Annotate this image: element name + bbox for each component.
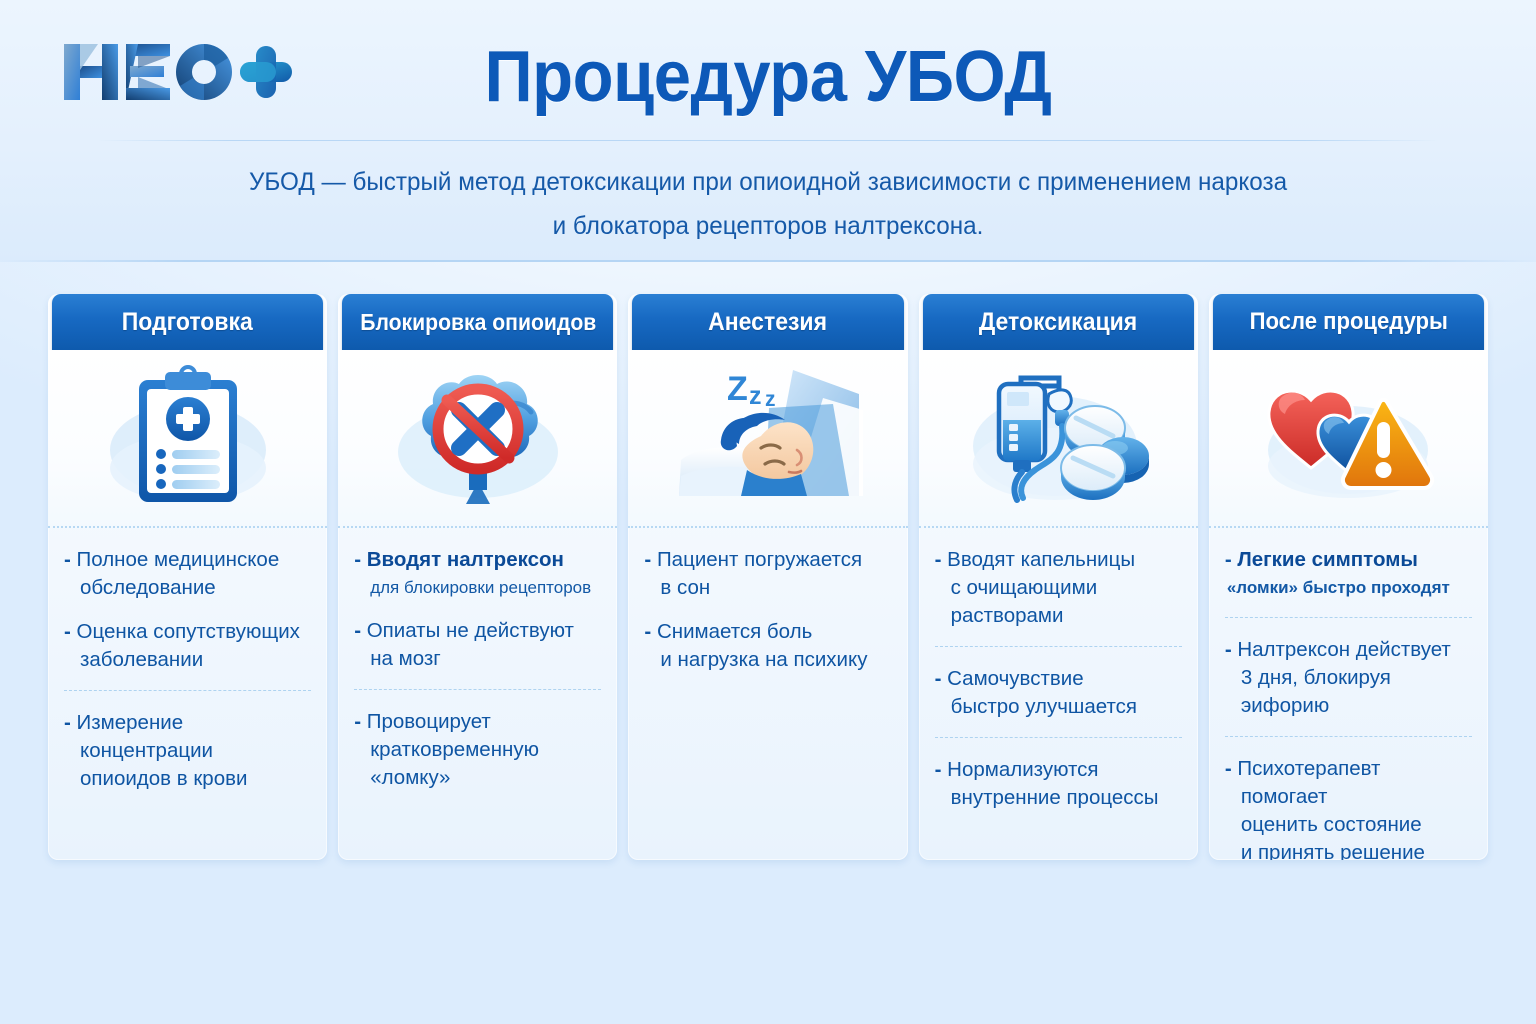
step-card-after[interactable]: После процедуры xyxy=(1209,294,1488,860)
step-bullets: - Полное медицинское обследование - Оцен… xyxy=(48,528,327,860)
bullet-cont-2: растворами xyxy=(935,602,1182,630)
subtitle-line-1: УБОД — быстрый метод детоксикации при оп… xyxy=(186,160,1350,204)
bullet-main: - Полное медицинское xyxy=(64,546,311,574)
bullet-text: Легкие симптомы xyxy=(1237,548,1418,571)
bullet-item: - Психотерапевт помогает оценить состоян… xyxy=(1225,736,1472,860)
bullet-item: - Налтрексон действует 3 дня, блокируя э… xyxy=(1225,617,1472,720)
bullet-main: - Легкие симптомы xyxy=(1225,546,1472,574)
page-subtitle: УБОД — быстрый метод детоксикации при оп… xyxy=(186,160,1350,248)
bullet-main: - Самочувствие xyxy=(935,665,1182,693)
step-title: Анестезия xyxy=(709,308,828,337)
step-bullets: - Вводят капельницы с очищающими раствор… xyxy=(919,528,1198,860)
bullet-cont: кратковременную xyxy=(354,736,601,764)
bullet-dash: - xyxy=(1225,757,1232,780)
step-header-preparation: Подготовка xyxy=(52,294,323,350)
step-bullets: - Легкие симптомы «ломки» быстро проходя… xyxy=(1209,528,1488,860)
iv-drip-pills-icon xyxy=(963,364,1153,514)
bullet-dash: - xyxy=(354,619,361,642)
bullet-item: - Измерение концентрации опиоидов в кров… xyxy=(64,690,311,793)
bullet-cont-2: «ломку» xyxy=(354,764,601,792)
bullet-dash: - xyxy=(64,620,71,643)
bullet-dash: - xyxy=(935,667,942,690)
bullet-main: - Вводят капельницы xyxy=(935,546,1182,574)
bullet-cont: оценить состояние xyxy=(1225,811,1472,839)
bullet-text: Вводят капельницы xyxy=(947,548,1135,571)
bullet-main: - Провоцирует xyxy=(354,708,601,736)
step-icon-zone xyxy=(338,350,617,528)
brain-blocked-icon xyxy=(383,364,573,514)
subtitle-line-2: и блокатора рецепторов налтрексона. xyxy=(186,204,1350,248)
bullet-main: - Оценка сопутствующих xyxy=(64,618,311,646)
bullet-item: - Опиаты не действуют на мозг xyxy=(354,617,601,673)
bullet-dash: - xyxy=(644,548,651,571)
bullet-dash: - xyxy=(644,620,651,643)
bullet-dash: - xyxy=(935,548,942,571)
step-header-anesthesia: Анестезия xyxy=(632,294,903,350)
bullet-cont: и нагрузка на психику xyxy=(644,646,891,674)
step-header-opioid-blocking: Блокировка опиоидов xyxy=(342,294,613,350)
bullet-sub: «ломки» быстро проходят xyxy=(1225,575,1472,601)
header-divider xyxy=(96,140,1440,141)
bullet-item: - Оценка сопутствующих заболевании xyxy=(64,618,311,674)
bullet-text: Самочувствие xyxy=(947,667,1083,690)
bullet-main: - Психотерапевт помогает xyxy=(1225,755,1472,811)
bullet-text: Налтрексон действует xyxy=(1237,638,1450,661)
bullet-text: Опиаты не действуют xyxy=(367,619,574,642)
step-icon-zone xyxy=(1209,350,1488,528)
bullet-main: - Вводят налтрексон xyxy=(354,546,601,574)
bullet-dash: - xyxy=(1225,638,1232,661)
svg-text:z: z xyxy=(765,388,776,411)
svg-text:z: z xyxy=(749,382,762,410)
bullet-item: - Вводят капельницы с очищающими раствор… xyxy=(935,546,1182,630)
bullet-item: - Снимается боль и нагрузка на психику xyxy=(644,618,891,674)
bullet-main: - Налтрексон действует xyxy=(1225,636,1472,664)
step-title: Детоксикация xyxy=(979,308,1137,337)
bullet-cont: опиоидов в крови xyxy=(64,765,311,793)
step-card-detox[interactable]: Детоксикация xyxy=(919,294,1198,860)
bullet-main: - Нормализуются xyxy=(935,756,1182,784)
bullet-main: - Измерение концентрации xyxy=(64,709,311,765)
bullet-main: - Пациент погружается xyxy=(644,546,891,574)
bullet-item: - Нормализуются внутренние процессы xyxy=(935,737,1182,812)
bullet-text: Вводят налтрексон xyxy=(367,548,564,571)
bullet-item: - Провоцирует кратковременную «ломку» xyxy=(354,689,601,792)
infographic-poster: Процедура УБОД УБОД — быстрый метод дето… xyxy=(0,0,1536,1024)
bullet-text: Нормализуются xyxy=(947,758,1098,781)
step-title: Блокировка опиоидов xyxy=(360,309,596,336)
page-title: Процедура УБОД xyxy=(54,36,1482,118)
bullet-cont: заболевании xyxy=(64,646,311,674)
bullet-dash: - xyxy=(354,710,361,733)
zzz-label: Z xyxy=(727,370,748,408)
step-bullets: - Вводят налтрексон для блокировки рецеп… xyxy=(338,528,617,860)
hearts-warning-icon xyxy=(1253,364,1443,514)
bullet-text: Оценка сопутствующих xyxy=(77,620,300,643)
bullet-dash: - xyxy=(354,548,361,571)
step-card-preparation[interactable]: Подготовка xyxy=(48,294,327,860)
steps-row: Подготовка xyxy=(48,294,1488,860)
bullet-dash: - xyxy=(1225,548,1232,571)
bullet-item: - Самочувствие быстро улучшается xyxy=(935,646,1182,721)
step-header-after: После процедуры xyxy=(1213,294,1484,350)
bullet-main: - Снимается боль xyxy=(644,618,891,646)
bullet-item: - Полное медицинское обследование xyxy=(64,546,311,602)
bullet-item: - Легкие симптомы «ломки» быстро проходя… xyxy=(1225,546,1472,601)
bullet-cont: в сон xyxy=(644,574,891,602)
bullet-cont: внутренние процессы xyxy=(935,784,1182,812)
step-icon-zone: Z z z xyxy=(628,350,907,528)
bullet-text: Измерение концентрации xyxy=(77,711,213,762)
clipboard-medical-icon xyxy=(93,364,283,514)
step-icon-zone xyxy=(48,350,327,528)
bullet-item: - Вводят налтрексон для блокировки рецеп… xyxy=(354,546,601,601)
bullet-text: Провоцирует xyxy=(367,710,491,733)
step-bullets: - Пациент погружается в сон - Снимается … xyxy=(628,528,907,860)
step-title: Подготовка xyxy=(122,308,253,337)
step-header-detox: Детоксикация xyxy=(923,294,1194,350)
bullet-cont-2: и принять решение xyxy=(1225,839,1472,860)
bullet-dash: - xyxy=(935,758,942,781)
sleeping-patient-icon: Z z z xyxy=(673,364,863,514)
bullet-main: - Опиаты не действуют xyxy=(354,617,601,645)
bullet-dash: - xyxy=(64,548,71,571)
step-card-anesthesia[interactable]: Анестезия xyxy=(628,294,907,860)
bullet-item: - Пациент погружается в сон xyxy=(644,546,891,602)
bullet-cont: на мозг xyxy=(354,645,601,673)
bullet-dash: - xyxy=(64,711,71,734)
bullet-text: Снимается боль xyxy=(657,620,812,643)
bullet-text: Полное медицинское xyxy=(77,548,280,571)
step-card-opioid-blocking[interactable]: Блокировка опиоидов xyxy=(338,294,617,860)
bullet-cont: быстро улучшается xyxy=(935,693,1182,721)
bullet-text: Психотерапевт помогает xyxy=(1237,757,1380,808)
step-icon-zone xyxy=(919,350,1198,528)
step-title: После процедуры xyxy=(1249,308,1447,336)
bullet-text: Пациент погружается xyxy=(657,548,862,571)
bullet-cont: обследование xyxy=(64,574,311,602)
bullet-cont: с очищающими xyxy=(935,574,1182,602)
bullet-sub: для блокировки рецепторов xyxy=(354,575,601,601)
bullet-cont: 3 дня, блокируя эифорию xyxy=(1225,664,1472,720)
